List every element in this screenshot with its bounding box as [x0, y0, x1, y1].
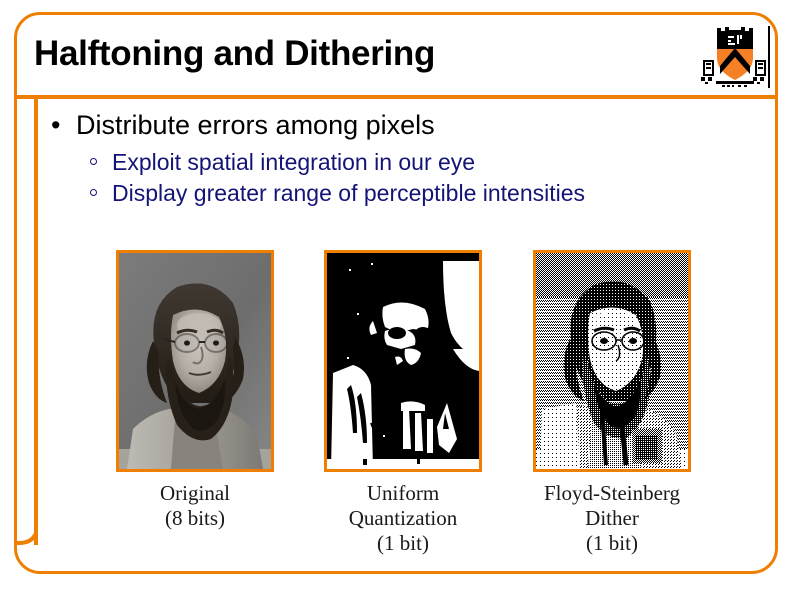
- figure-row: Original (8 bits): [0, 250, 800, 580]
- caption-line: (1 bit): [324, 531, 482, 556]
- figure-original: Original (8 bits): [116, 250, 274, 531]
- hollow-circle-marker-icon: [90, 189, 97, 196]
- figure-image-frame: [324, 250, 482, 472]
- bullet-marker-icon: •: [51, 108, 60, 142]
- bullet-item-sub-2: Display greater range of perceptible int…: [46, 178, 746, 209]
- figure-caption: Floyd-Steinberg Dither (1 bit): [533, 481, 691, 556]
- figure-image-frame: [533, 250, 691, 472]
- caption-line: Quantization: [324, 506, 482, 531]
- bullet-text: Distribute errors among pixels: [76, 110, 435, 140]
- title-divider-rule: [14, 95, 778, 99]
- figure-caption: Original (8 bits): [116, 481, 274, 531]
- hollow-circle-marker-icon: [90, 158, 97, 165]
- title-bar: Halftoning and Dithering: [0, 20, 800, 92]
- caption-line: Uniform: [324, 481, 482, 506]
- caption-line: (8 bits): [116, 506, 274, 531]
- original-grayscale-portrait-image: [119, 253, 271, 469]
- figure-uniform-quantization: Uniform Quantization (1 bit): [324, 250, 482, 556]
- bullet-text: Exploit spatial integration in our eye: [112, 149, 475, 175]
- page-title: Halftoning and Dithering: [34, 34, 435, 74]
- caption-line: Original: [116, 481, 274, 506]
- bullet-item-primary: • Distribute errors among pixels: [46, 108, 746, 142]
- figure-caption: Uniform Quantization (1 bit): [324, 481, 482, 556]
- figure-image-frame: [116, 250, 274, 472]
- uniform-quantization-portrait-image: [327, 253, 479, 469]
- caption-line: Floyd-Steinberg: [533, 481, 691, 506]
- caption-line: (1 bit): [533, 531, 691, 556]
- figure-floyd-steinberg: Floyd-Steinberg Dither (1 bit): [533, 250, 691, 556]
- bullet-list: • Distribute errors among pixels Exploit…: [46, 108, 746, 209]
- slide-canvas: Halftoning and Dithering: [0, 0, 800, 600]
- caption-line: Dither: [533, 506, 691, 531]
- princeton-shield-icon: [700, 24, 770, 90]
- floyd-steinberg-dither-portrait-image: [536, 253, 688, 469]
- bullet-item-sub-1: Exploit spatial integration in our eye: [46, 147, 746, 178]
- bullet-text: Display greater range of perceptible int…: [112, 180, 585, 206]
